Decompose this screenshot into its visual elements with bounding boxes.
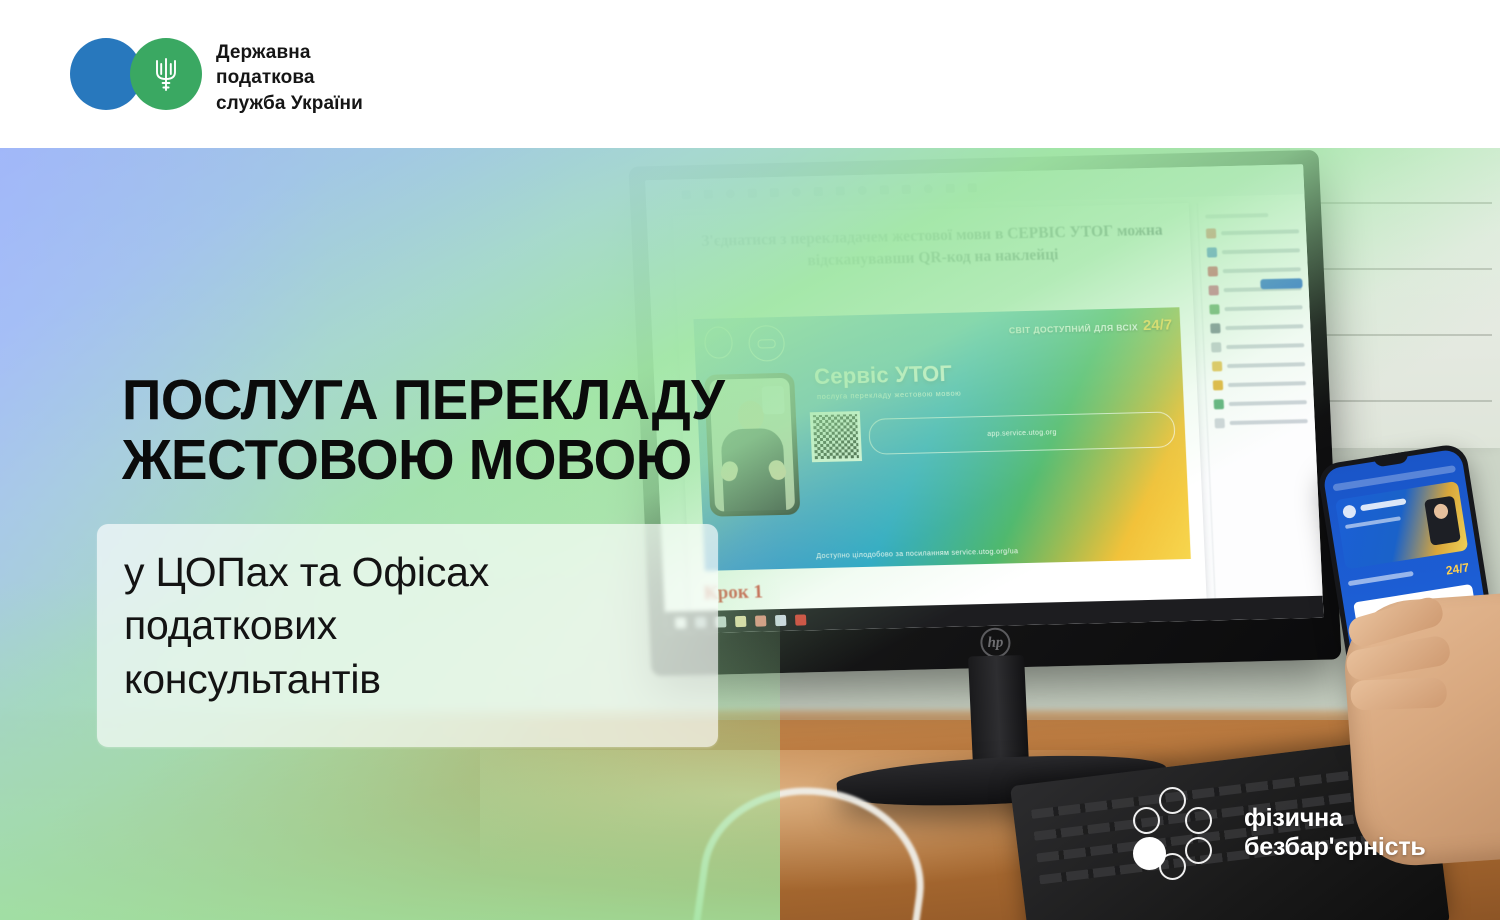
emblem-icon bbox=[704, 326, 733, 359]
green-circle-icon bbox=[130, 38, 202, 110]
sidebar-item bbox=[1214, 416, 1307, 428]
document-window: З'єднатися з перекладачем жестової мови … bbox=[645, 164, 1324, 634]
document-page: З'єднатися з перекладачем жестової мови … bbox=[673, 203, 1207, 611]
sidebar-item bbox=[1209, 302, 1302, 314]
organization-name: Державна податкова служба України bbox=[216, 38, 363, 116]
finger bbox=[1350, 677, 1447, 710]
taskbar-search-icon bbox=[695, 616, 706, 627]
sidebar-item bbox=[1214, 397, 1307, 409]
sign-interpreter-head bbox=[737, 400, 764, 431]
sidebar-item bbox=[1211, 340, 1304, 352]
phone-interpreter-avatar bbox=[1424, 496, 1461, 546]
ukraine-trident-icon bbox=[153, 54, 179, 94]
brand-lockup: Державна податкова служба України bbox=[70, 38, 363, 116]
phone-banner-card bbox=[1335, 481, 1468, 570]
monitor-bezel: З'єднатися з перекладачем жестової мови … bbox=[628, 150, 1341, 676]
barrier-free-logo: фізична безбар'єрність bbox=[1133, 787, 1426, 879]
poster-phone-mockup bbox=[704, 373, 800, 517]
sidebar-item bbox=[1208, 264, 1301, 276]
taskbar-app-icon bbox=[755, 615, 766, 626]
taskbar-app-icon bbox=[715, 616, 726, 627]
taskbar-app-icon bbox=[735, 615, 746, 626]
qr-code-icon bbox=[810, 411, 862, 462]
sidebar-item bbox=[1210, 321, 1303, 333]
barrier-free-dots-icon bbox=[1133, 787, 1227, 879]
step-label: Крок 1 bbox=[703, 581, 763, 604]
phone-text-line bbox=[1348, 571, 1414, 586]
utog-logo-icon bbox=[748, 325, 786, 362]
sidebar-item bbox=[1207, 245, 1300, 257]
document-heading: З'єднатися з перекладачем жестової мови … bbox=[673, 203, 1192, 282]
barrier-free-label: фізична безбар'єрність bbox=[1244, 804, 1426, 862]
poster-badges bbox=[704, 325, 786, 363]
hp-logo-icon: hp bbox=[980, 627, 1011, 658]
video-thumbnail bbox=[762, 386, 785, 415]
poster-phone-screen bbox=[709, 378, 795, 512]
taskbar-app-icon bbox=[795, 614, 806, 625]
header-bar: Державна податкова служба України bbox=[0, 0, 1500, 148]
poster-url: app.service.utog.org bbox=[868, 411, 1176, 454]
poster-availability: 24/7 bbox=[1143, 316, 1173, 334]
computer-monitor: З'єднатися з перекладачем жестової мови … bbox=[628, 150, 1341, 676]
poster-subtitle: послуга перекладу жестовою мовою bbox=[817, 389, 962, 402]
sidebar-item bbox=[1213, 378, 1306, 390]
poster-tagline-text: СВІТ ДОСТУПНИЙ ДЛЯ ВСІХ bbox=[1009, 322, 1139, 335]
monitor-screen: З'єднатися з перекладачем жестової мови … bbox=[645, 164, 1324, 634]
poster-footer: Доступно цілодобово за посиланням servic… bbox=[816, 542, 1182, 562]
taskbar-start-icon bbox=[675, 617, 686, 628]
poster-title: Сервіс УТОГ bbox=[814, 361, 953, 390]
sidebar-item bbox=[1212, 359, 1305, 371]
phone-availability: 24/7 bbox=[1445, 560, 1470, 577]
poster-canvas: Державна податкова служба України bbox=[0, 0, 1500, 920]
utog-poster-image: СВІТ ДОСТУПНИЙ ДЛЯ ВСІХ24/7 Сервіс УТОГ … bbox=[693, 307, 1190, 571]
brand-marks bbox=[70, 38, 202, 110]
document-sidebar bbox=[1197, 200, 1323, 598]
sidebar-highlight-pill bbox=[1260, 278, 1302, 289]
poster-tagline: СВІТ ДОСТУПНИЙ ДЛЯ ВСІХ24/7 bbox=[806, 315, 1173, 344]
taskbar-app-icon bbox=[775, 614, 786, 625]
sidebar-item bbox=[1206, 226, 1299, 238]
